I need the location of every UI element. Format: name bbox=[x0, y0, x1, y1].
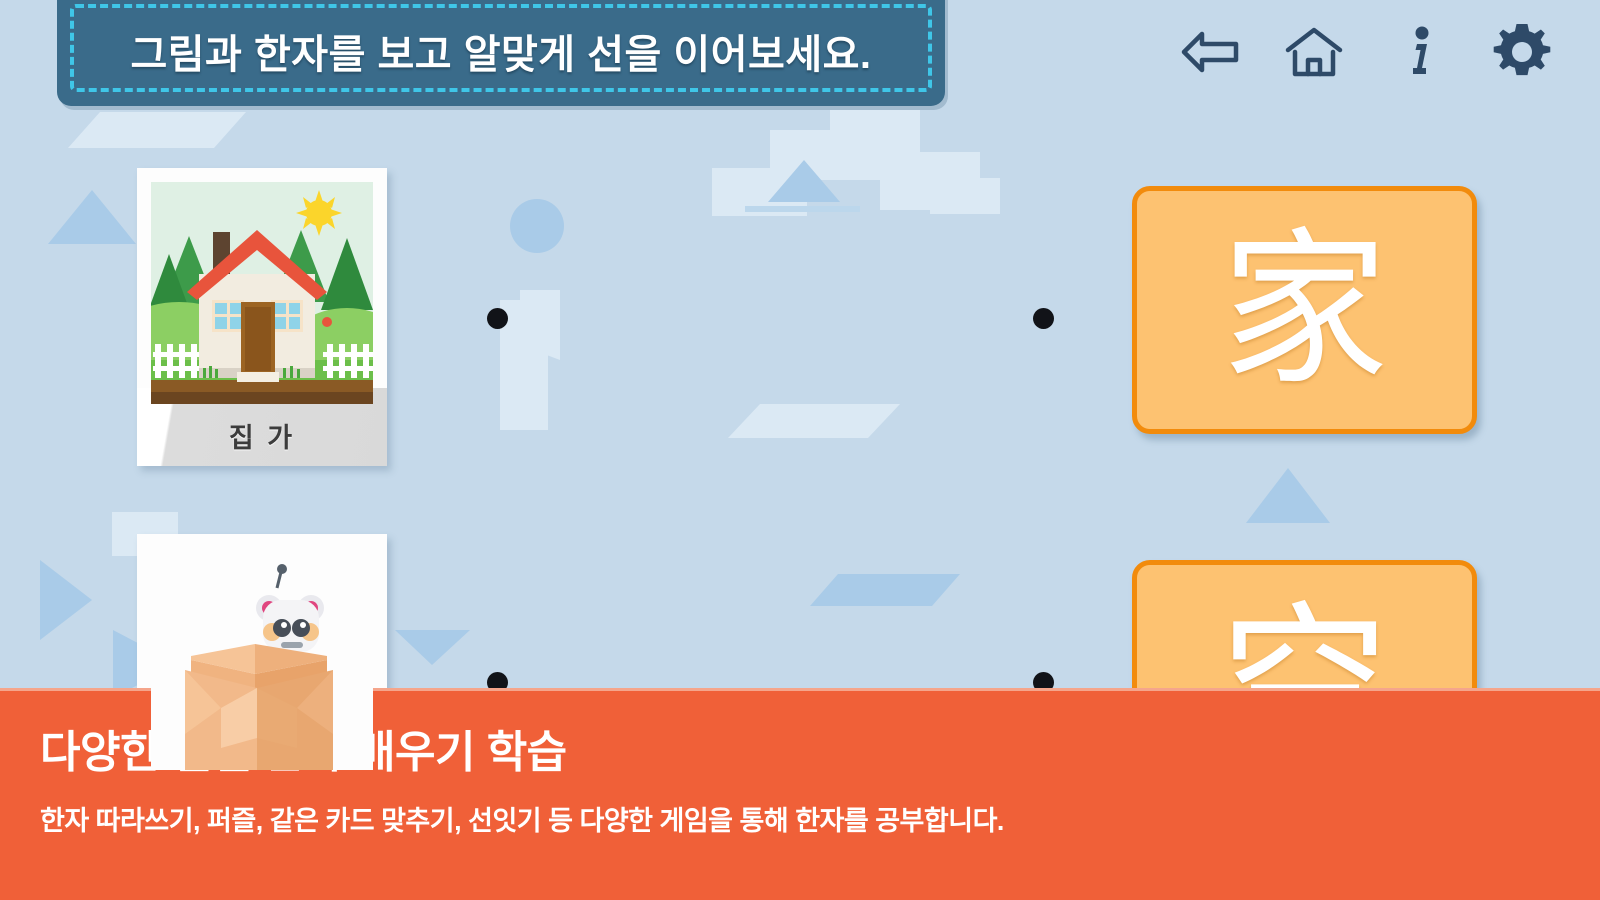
info-button[interactable] bbox=[1384, 18, 1452, 86]
back-icon bbox=[1178, 24, 1242, 80]
open-box-robot-illustration bbox=[151, 548, 373, 770]
instruction-banner: 그림과 한자를 보고 알맞게 선을 이어보세요. bbox=[57, 0, 945, 106]
house-illustration bbox=[151, 182, 373, 404]
picture-card-caption bbox=[151, 770, 373, 832]
connector-dot-right-1[interactable] bbox=[1033, 308, 1054, 329]
home-icon bbox=[1284, 24, 1344, 80]
picture-card-box[interactable] bbox=[137, 534, 387, 832]
back-button[interactable] bbox=[1176, 18, 1244, 86]
picture-card-house[interactable]: 집 가 bbox=[137, 168, 387, 466]
gear-icon bbox=[1491, 21, 1553, 83]
home-button[interactable] bbox=[1280, 18, 1348, 86]
picture-card-caption: 집 가 bbox=[151, 404, 373, 466]
hanja-card-ja[interactable]: 家 bbox=[1132, 186, 1477, 434]
info-icon bbox=[1401, 24, 1435, 80]
hanja-character: 家 bbox=[1221, 226, 1389, 394]
settings-button[interactable] bbox=[1488, 18, 1556, 86]
connector-dot-left-1[interactable] bbox=[487, 308, 508, 329]
instruction-text: 그림과 한자를 보고 알맞게 선을 이어보세요. bbox=[130, 22, 871, 80]
toolbar bbox=[1176, 18, 1556, 86]
